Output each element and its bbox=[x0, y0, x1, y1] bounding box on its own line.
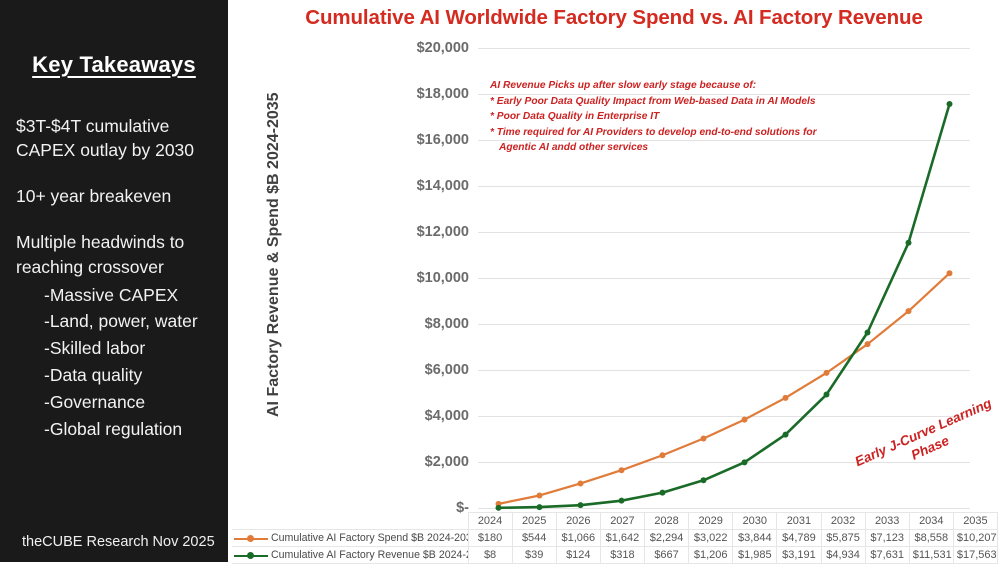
table-cell-value: $544 bbox=[512, 530, 556, 547]
takeaway-headwinds: Multiple headwinds to reaching crossover bbox=[16, 230, 228, 278]
data-point bbox=[701, 477, 707, 483]
table-header: 2024202520262027202820292030203120322033… bbox=[232, 513, 998, 530]
table-cell-value: $318 bbox=[600, 547, 644, 564]
data-point bbox=[865, 341, 871, 347]
table-cell-value: $180 bbox=[468, 530, 512, 547]
table-corner-cell bbox=[232, 513, 468, 530]
data-point bbox=[906, 308, 912, 314]
y-axis-tick-label: $2,000 bbox=[425, 454, 469, 470]
legend-swatch-green bbox=[234, 551, 268, 560]
y-axis-tick-label: $10,000 bbox=[417, 270, 469, 286]
table-header-year: 2035 bbox=[953, 513, 997, 530]
table-cell-value: $10,207 bbox=[953, 530, 997, 547]
legend-swatch-orange bbox=[234, 534, 268, 543]
takeaway-capex: $3T-$4T cumulative CAPEX outlay by 2030 bbox=[16, 114, 228, 162]
y-axis-tick-label: $20,000 bbox=[417, 40, 469, 56]
table-cell-value: $4,789 bbox=[777, 530, 821, 547]
chart-title: Cumulative AI Worldwide Factory Spend vs… bbox=[228, 6, 1000, 30]
legend-item-revenue: Cumulative AI Factory Revenue $B 2024-20… bbox=[232, 547, 468, 564]
data-point bbox=[701, 435, 707, 441]
table-cell-value: $3,191 bbox=[777, 547, 821, 564]
table-cell-value: $7,631 bbox=[865, 547, 909, 564]
data-point bbox=[824, 370, 830, 376]
table-row: Cumulative AI Factory Spend $B 2024-2035… bbox=[232, 530, 998, 547]
legend-item-spend: Cumulative AI Factory Spend $B 2024-2035 bbox=[232, 530, 468, 547]
data-point bbox=[537, 492, 543, 498]
table-header-year: 2027 bbox=[600, 513, 644, 530]
table-cell-value: $124 bbox=[556, 547, 600, 564]
table-header-year: 2029 bbox=[689, 513, 733, 530]
annotation-heading: AI Revenue Picks up after slow early sta… bbox=[490, 78, 817, 94]
data-point bbox=[537, 504, 543, 510]
list-item: -Data quality bbox=[44, 362, 228, 389]
data-point bbox=[865, 329, 871, 335]
table-cell-value: $3,022 bbox=[689, 530, 733, 547]
table-cell-value: $11,531 bbox=[909, 547, 953, 564]
annotation-line: * Time required for AI Providers to deve… bbox=[490, 125, 817, 141]
table-cell-value: $1,642 bbox=[600, 530, 644, 547]
list-item: -Governance bbox=[44, 389, 228, 416]
data-point bbox=[783, 395, 789, 401]
table-header-year: 2031 bbox=[777, 513, 821, 530]
data-point bbox=[742, 459, 748, 465]
table-header-year: 2026 bbox=[556, 513, 600, 530]
list-item: -Land, power, water bbox=[44, 308, 228, 335]
gridline: $- bbox=[478, 508, 970, 509]
y-axis-tick-label: $8,000 bbox=[425, 316, 469, 332]
series-data-table: 2024202520262027202820292030203120322033… bbox=[232, 512, 998, 564]
table-header-year: 2030 bbox=[733, 513, 777, 530]
y-axis-tick-label: $12,000 bbox=[417, 224, 469, 240]
list-item: -Skilled labor bbox=[44, 335, 228, 362]
headwinds-list: -Massive CAPEX -Land, power, water -Skil… bbox=[0, 282, 228, 443]
table-header-year: 2033 bbox=[865, 513, 909, 530]
table-cell-value: $17,563 bbox=[953, 547, 997, 564]
y-axis-title: AI Factory Revenue & Spend $B 2024-2035 bbox=[265, 117, 283, 417]
data-point bbox=[578, 480, 584, 486]
source-attribution: theCUBE Research Nov 2025 bbox=[22, 534, 215, 550]
revenue-explanation-annotation: AI Revenue Picks up after slow early sta… bbox=[490, 78, 817, 156]
y-axis-tick-label: $16,000 bbox=[417, 132, 469, 148]
annotation-line: * Early Poor Data Quality Impact from We… bbox=[490, 94, 817, 110]
table-cell-value: $4,934 bbox=[821, 547, 865, 564]
annotation-line: Agentic AI andd other services bbox=[490, 140, 817, 156]
chart-container: Cumulative AI Worldwide Factory Spend vs… bbox=[228, 0, 1000, 562]
list-item: -Massive CAPEX bbox=[44, 282, 228, 309]
table-cell-value: $7,123 bbox=[865, 530, 909, 547]
key-takeaways-sidebar: Key Takeaways $3T-$4T cumulative CAPEX o… bbox=[0, 0, 228, 562]
table-body: Cumulative AI Factory Spend $B 2024-2035… bbox=[232, 530, 998, 564]
table-cell-value: $1,066 bbox=[556, 530, 600, 547]
table-cell-value: $1,206 bbox=[689, 547, 733, 564]
table-cell-value: $5,875 bbox=[821, 530, 865, 547]
annotation-line: * Poor Data Quality in Enterprise IT bbox=[490, 109, 817, 125]
legend-label-revenue: Cumulative AI Factory Revenue $B 2024-20… bbox=[271, 549, 468, 561]
data-point bbox=[660, 490, 666, 496]
data-point bbox=[947, 101, 953, 107]
legend-label-spend: Cumulative AI Factory Spend $B 2024-2035 bbox=[271, 532, 468, 544]
table-cell-value: $3,844 bbox=[733, 530, 777, 547]
table-cell-value: $8 bbox=[468, 547, 512, 564]
takeaway-breakeven: 10+ year breakeven bbox=[16, 184, 228, 208]
data-point bbox=[742, 417, 748, 423]
table-row: Cumulative AI Factory Revenue $B 2024-20… bbox=[232, 547, 998, 564]
y-axis-tick-label: $4,000 bbox=[425, 408, 469, 424]
data-point bbox=[619, 498, 625, 504]
data-point bbox=[578, 502, 584, 508]
list-item: -Global regulation bbox=[44, 416, 228, 443]
table-header-year: 2028 bbox=[645, 513, 689, 530]
table-cell-value: $667 bbox=[645, 547, 689, 564]
data-point bbox=[783, 432, 789, 438]
data-point bbox=[947, 270, 953, 276]
table-cell-value: $8,558 bbox=[909, 530, 953, 547]
data-point bbox=[906, 240, 912, 246]
table-cell-value: $2,294 bbox=[645, 530, 689, 547]
y-axis-tick-label: $18,000 bbox=[417, 86, 469, 102]
y-axis-tick-label: $6,000 bbox=[425, 362, 469, 378]
data-point bbox=[660, 452, 666, 458]
table-header-year: 2025 bbox=[512, 513, 556, 530]
table-row-years: 2024202520262027202820292030203120322033… bbox=[232, 513, 998, 530]
table-header-year: 2034 bbox=[909, 513, 953, 530]
data-point bbox=[496, 505, 502, 511]
table-cell-value: $39 bbox=[512, 547, 556, 564]
table-header-year: 2032 bbox=[821, 513, 865, 530]
sidebar-title: Key Takeaways bbox=[0, 52, 228, 78]
data-point bbox=[619, 467, 625, 473]
data-point bbox=[824, 392, 830, 398]
table-cell-value: $1,985 bbox=[733, 547, 777, 564]
table-header-year: 2024 bbox=[468, 513, 512, 530]
y-axis-tick-label: $14,000 bbox=[417, 178, 469, 194]
